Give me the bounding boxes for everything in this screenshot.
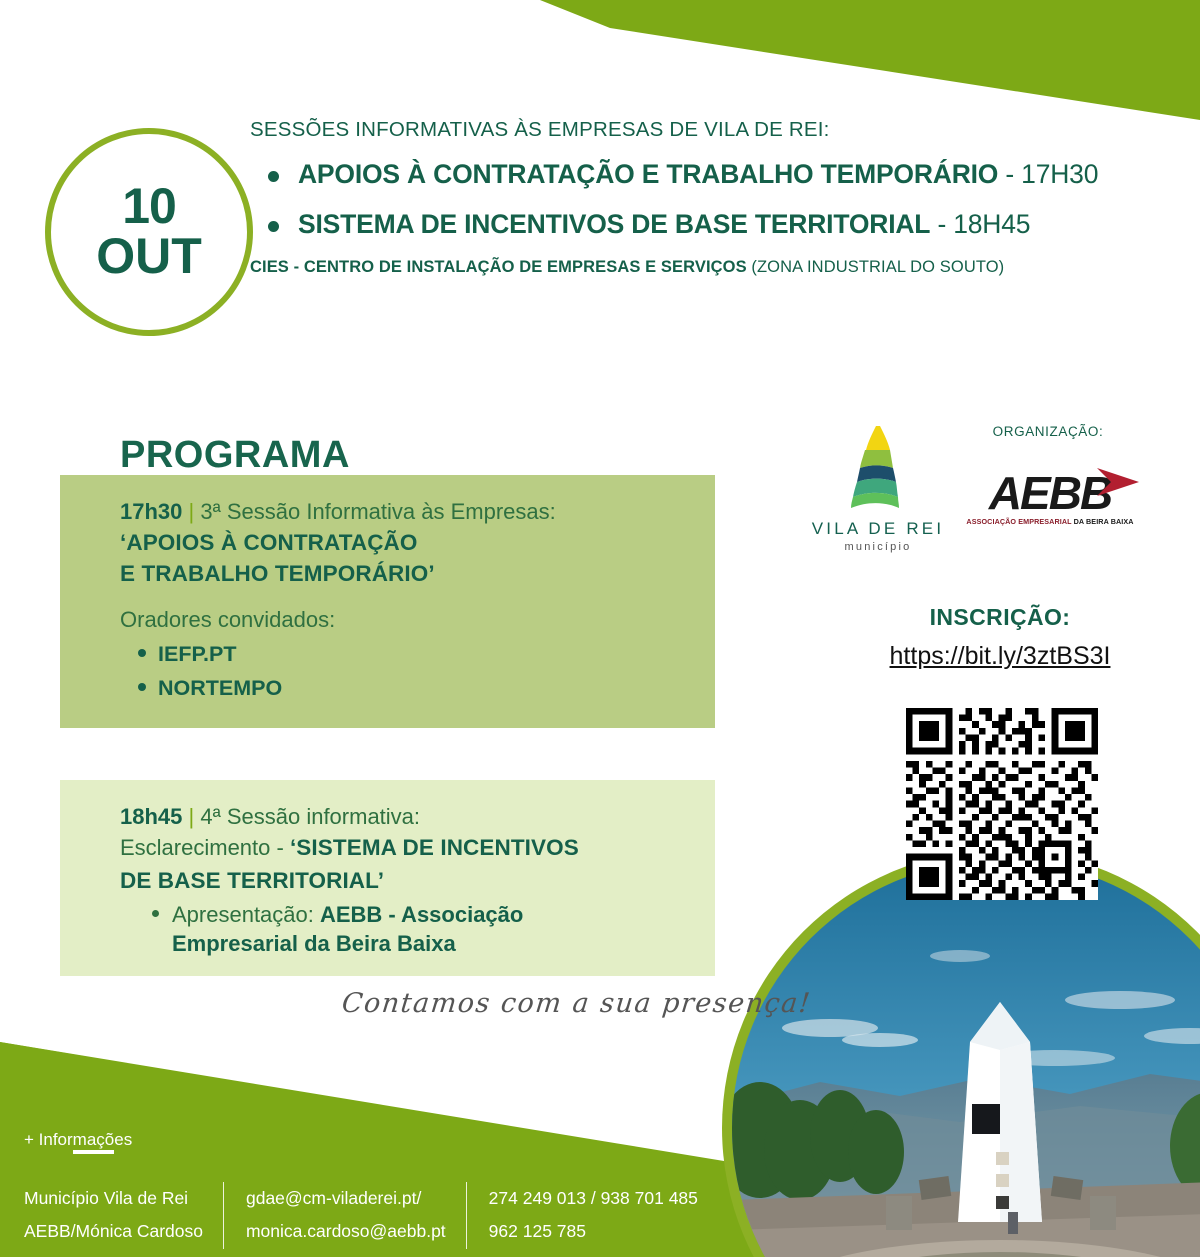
presentation-org-l2: Empresarial da Beira Baixa xyxy=(172,929,691,958)
program-block-2: 18h45 | 4ª Sessão informativa: Esclareci… xyxy=(60,780,715,976)
logo-vila-de-rei: VILA DE REI município xyxy=(808,424,948,553)
organization-label: ORGANIZAÇÃO: xyxy=(993,424,1104,439)
footer-entity: AEBB/Mónica Cardoso xyxy=(24,1215,203,1248)
vila-de-rei-mark-icon xyxy=(832,424,924,510)
footer-more-info: + Informações xyxy=(24,1130,132,1150)
footer-email[interactable]: monica.cardoso@aebb.pt xyxy=(246,1215,446,1248)
logo-vila-de-rei-subtitle: município xyxy=(808,541,948,553)
program-2-prefix: Esclarecimento - xyxy=(120,835,290,860)
program-2-topic-bold1: ‘SISTEMA DE INCENTIVOS xyxy=(290,835,579,860)
poster-canvas: 10 OUT SESSÕES INFORMATIVAS ÀS EMPRESAS … xyxy=(0,0,1200,1257)
program-2-presentation-list: Apresentação: AEBB - Associação Empresar… xyxy=(120,900,691,958)
venue-line: CIES - CENTRO DE INSTALAÇÃO DE EMPRESAS … xyxy=(250,258,1180,277)
speaker-name: IEFP.PT xyxy=(158,642,236,666)
program-2-separator: | xyxy=(182,804,200,829)
list-item: IEFP.PT xyxy=(158,640,691,669)
top-green-band-shape xyxy=(540,0,1200,120)
session-time: - 18H45 xyxy=(930,209,1030,239)
inscription-link[interactable]: https://bit.ly/3ztBS3I xyxy=(890,642,1111,671)
program-1-session: 3ª Sessão Informativa às Empresas: xyxy=(200,499,555,524)
presentation-org-l1: AEBB - Associação xyxy=(320,902,523,927)
bullet-icon xyxy=(268,221,279,232)
qr-code[interactable] xyxy=(906,708,1098,900)
list-item: NORTEMPO xyxy=(158,674,691,703)
bullet-icon xyxy=(268,171,279,182)
program-2-topic-bold2: DE BASE TERRITORIAL’ xyxy=(120,866,691,896)
program-1-speakers-list: IEFP.PT NORTEMPO xyxy=(120,640,691,703)
date-badge: 10 OUT xyxy=(45,128,253,336)
aebb-arrow-icon xyxy=(1095,466,1141,500)
program-2-headline: 18h45 | 4ª Sessão informativa: xyxy=(120,802,691,831)
footer-phone: 962 125 785 xyxy=(489,1215,698,1248)
footer-entity: Município Vila de Rei xyxy=(24,1182,203,1215)
program-2-topic-line2: Esclarecimento - ‘SISTEMA DE INCENTIVOS xyxy=(120,833,691,863)
program-block-1: 17h30 | 3ª Sessão Informativa às Empresa… xyxy=(60,475,715,728)
program-2-time: 18h45 xyxy=(120,804,182,829)
speaker-name: NORTEMPO xyxy=(158,676,282,700)
date-day: 10 xyxy=(122,182,176,231)
venue-sub: (ZONA INDUSTRIAL DO SOUTO) xyxy=(751,258,1004,276)
session-title: APOIOS À CONTRATAÇÃO E TRABALHO TEMPORÁR… xyxy=(298,159,998,189)
list-item: Apresentação: AEBB - Associação Empresar… xyxy=(172,900,691,958)
program-1-topic-line1: ‘APOIOS À CONTRATAÇÃO xyxy=(120,528,691,558)
footer-email[interactable]: gdae@cm-viladerei.pt/ xyxy=(246,1182,446,1215)
footer-emails-column: gdae@cm-viladerei.pt/ monica.cardoso@aeb… xyxy=(223,1182,466,1249)
venue-main: CIES - CENTRO DE INSTALAÇÃO DE EMPRESAS … xyxy=(250,258,751,276)
program-2-session: 4ª Sessão informativa: xyxy=(200,804,420,829)
footer-phone: 274 249 013 / 938 701 485 xyxy=(489,1182,698,1215)
header-kicker: SESSÕES INFORMATIVAS ÀS EMPRESAS DE VILA… xyxy=(250,118,1180,142)
photo-monument xyxy=(718,860,1200,1257)
header-session-list: APOIOS À CONTRATAÇÃO E TRABALHO TEMPORÁR… xyxy=(250,158,1180,242)
bullet-icon xyxy=(138,683,146,691)
footer-entities-column: Município Vila de Rei AEBB/Mónica Cardos… xyxy=(24,1182,223,1249)
logo-aebb: AEBB ASSOCIAÇÃO EMPRESARIAL DA BEIRA BAI… xyxy=(965,470,1135,526)
header-block: SESSÕES INFORMATIVAS ÀS EMPRESAS DE VILA… xyxy=(250,118,1180,277)
program-1-headline: 17h30 | 3ª Sessão Informativa às Empresa… xyxy=(120,497,691,526)
footer-contacts: Município Vila de Rei AEBB/Mónica Cardos… xyxy=(24,1182,718,1249)
footer-phones-column: 274 249 013 / 938 701 485 962 125 785 xyxy=(466,1182,718,1249)
header-session-item: SISTEMA DE INCENTIVOS DE BASE TERRITORIA… xyxy=(250,208,1180,242)
page-title: PROGRAMA xyxy=(120,434,350,477)
bullet-icon xyxy=(152,910,159,917)
presentation-prefix: Apresentação: xyxy=(172,902,320,927)
session-time: - 17H30 xyxy=(998,159,1098,189)
header-session-item: APOIOS À CONTRATAÇÃO E TRABALHO TEMPORÁR… xyxy=(250,158,1180,192)
program-1-separator: | xyxy=(182,499,200,524)
closing-script-line: Contamos com a sua presença! xyxy=(340,988,723,1019)
bullet-icon xyxy=(138,649,146,657)
program-1-time: 17h30 xyxy=(120,499,182,524)
session-title: SISTEMA DE INCENTIVOS DE BASE TERRITORIA… xyxy=(298,209,930,239)
date-month: OUT xyxy=(96,231,202,282)
inscription-label: INSCRIÇÃO: xyxy=(930,604,1071,631)
program-1-topic-line2: E TRABALHO TEMPORÁRIO’ xyxy=(120,559,691,589)
logo-vila-de-rei-name: VILA DE REI xyxy=(808,519,948,539)
program-1-speakers-label: Oradores convidados: xyxy=(120,605,691,634)
